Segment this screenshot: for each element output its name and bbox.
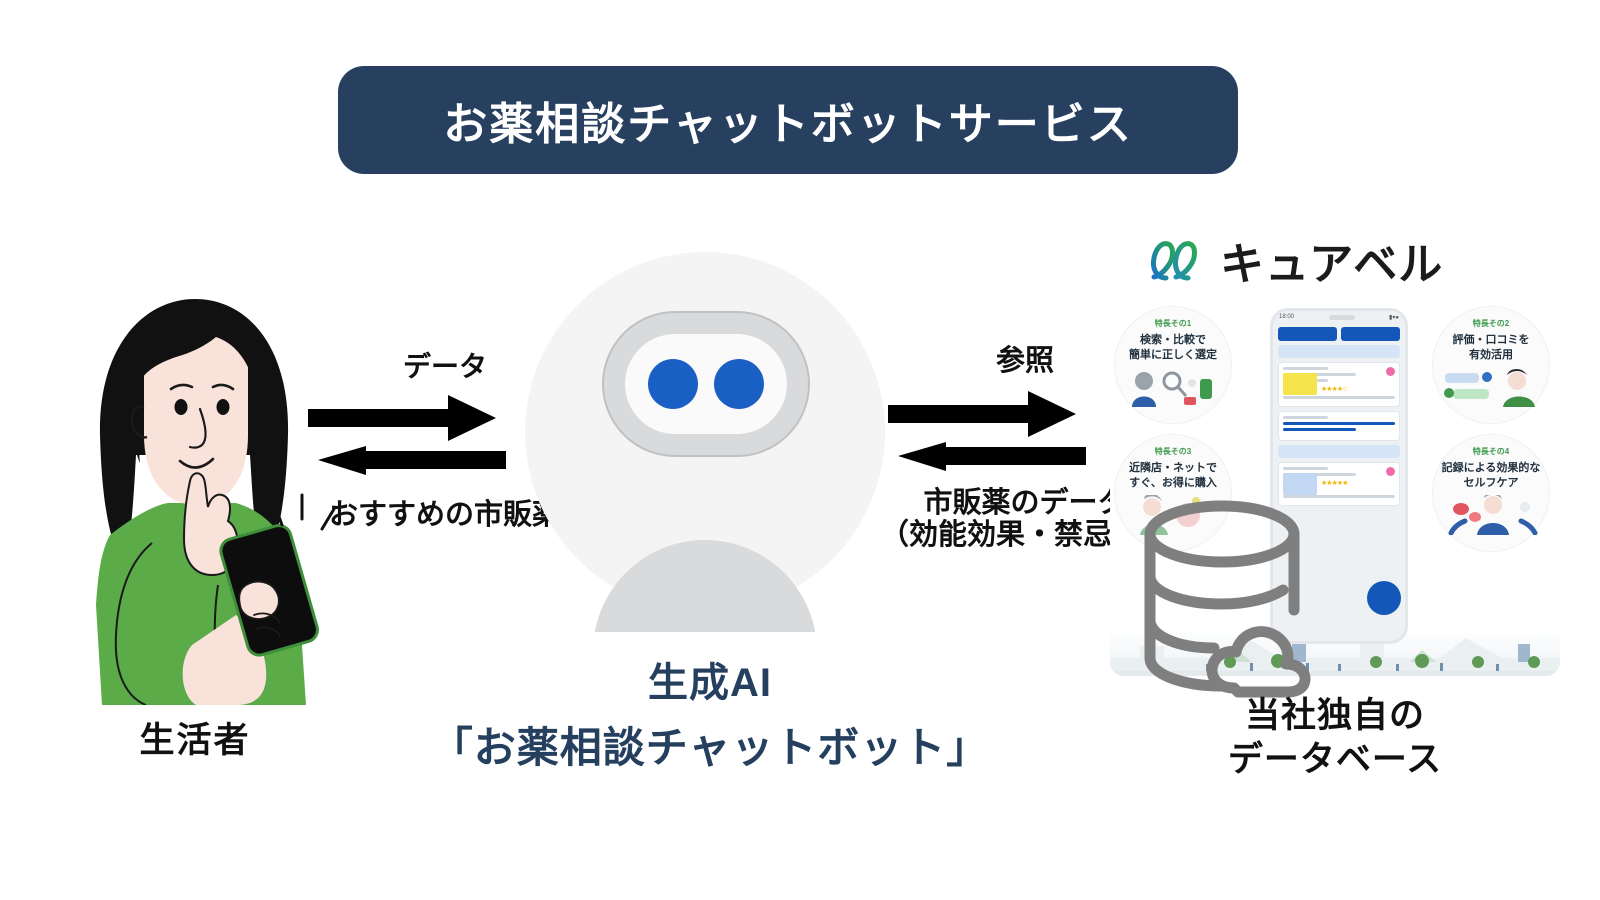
arrow-right-icon (308, 395, 496, 441)
phone-sort-button[interactable] (1341, 327, 1400, 341)
phone-status-bar: 18:00 ▮▾● (1273, 311, 1405, 323)
database-label-line2: データベース (1110, 738, 1560, 782)
title-banner: お薬相談チャットボットサービス (338, 66, 1238, 174)
feature-3-text: 近隣店・ネットで すぐ、お得に購入 (1129, 461, 1217, 491)
page-title: お薬相談チャットボットサービス (443, 88, 1133, 152)
phone-compare-button-1[interactable] (1278, 345, 1400, 358)
brand-name: キュアベル (1220, 228, 1443, 292)
robot-eye-right (714, 359, 764, 409)
phone-badge-line (1283, 367, 1328, 370)
feature-2-tag: 特長その2 (1473, 318, 1509, 329)
brand-logo: キュアベル (1150, 228, 1443, 292)
feature-1-text: 検索・比較で 簡単に正しく選定 (1129, 333, 1217, 363)
phone-meter-title (1283, 416, 1328, 419)
feature-4-tag: 特長その4 (1473, 446, 1509, 457)
double-loop-logo-icon (1150, 238, 1206, 282)
feature-4-line2: セルフケア (1442, 476, 1541, 491)
review-person-icon (1443, 367, 1539, 407)
feature-1-line2: 簡単に正しく選定 (1129, 348, 1217, 363)
phone-notch (1329, 315, 1355, 320)
feature-3-line1: 近隣店・ネットで (1129, 461, 1217, 476)
feature-2-line2: 有効活用 (1453, 348, 1530, 363)
phone-effect-meter (1278, 411, 1400, 441)
phone-status-icons: ▮▾● (1389, 314, 1399, 321)
feature-4-line1: 記録による効果的な (1442, 461, 1541, 476)
cloud-icon (1212, 632, 1305, 692)
feature-bubble-1: 特長その1 検索・比較で 簡単に正しく選定 (1114, 306, 1232, 424)
generative-ai-robot (525, 252, 885, 662)
phone-filter-row[interactable] (1273, 323, 1405, 341)
ai-label-line1: 生成AI (420, 650, 1000, 708)
phone-price-line (1283, 396, 1395, 399)
phone-product-thumb-2 (1283, 473, 1317, 495)
feature-bubble-4: 特長その4 記録による効果的な セルフケア (1432, 434, 1550, 552)
feature-3-tag: 特長その3 (1155, 446, 1191, 457)
ai-label-line2: 「お薬相談チャットボット」 (420, 714, 1000, 775)
feature-bubble-2: 特長その2 評価・口コミを 有効活用 (1432, 306, 1550, 424)
diagram-canvas: お薬相談チャットボットサービス (0, 0, 1600, 900)
arrow-right-icon (888, 391, 1076, 437)
phone-meter-bar-2 (1283, 428, 1356, 431)
feature-4-text: 記録による効果的な セルフケア (1442, 461, 1541, 491)
arrow-left-icon (898, 442, 1086, 471)
database-cloud-icon (1138, 498, 1368, 698)
phone-favorite-icon[interactable] (1386, 367, 1395, 376)
selfcare-person-icon (1443, 495, 1539, 535)
phone-meter-bar-1 (1283, 422, 1395, 425)
database-label-line1: 当社独自の (1110, 694, 1560, 738)
feature-2-line1: 評価・口コミを (1453, 333, 1530, 348)
phone-filter-button[interactable] (1278, 327, 1337, 341)
phone-product-thumb (1283, 373, 1317, 395)
robot-eye-left (648, 359, 698, 409)
robot-body (593, 540, 817, 632)
ai-label-block: 生成AI 「お薬相談チャットボット」 (420, 650, 1000, 775)
phone-product-card-1[interactable]: ★★★★☆ (1278, 362, 1400, 407)
feature-1-line1: 検索・比較で (1129, 333, 1217, 348)
phone-badge-line-2 (1283, 467, 1328, 470)
feature-1-tag: 特長その1 (1155, 318, 1191, 329)
phone-favorite-icon-2[interactable] (1386, 467, 1395, 476)
phone-compare-button-2[interactable] (1278, 445, 1400, 458)
phone-chat-support-button[interactable] (1367, 581, 1401, 615)
feature-3-line2: すぐ、お得に購入 (1129, 476, 1217, 491)
arrow-left-icon (318, 446, 506, 475)
database-panel: キュアベル (1110, 218, 1560, 688)
magnifier-person-icon (1126, 367, 1220, 407)
phone-status-time: 18:00 (1279, 314, 1294, 320)
database-label: 当社独自の データベース (1110, 694, 1560, 782)
consumer-label: 生活者 (40, 712, 350, 763)
feature-2-text: 評価・口コミを 有効活用 (1453, 333, 1530, 363)
